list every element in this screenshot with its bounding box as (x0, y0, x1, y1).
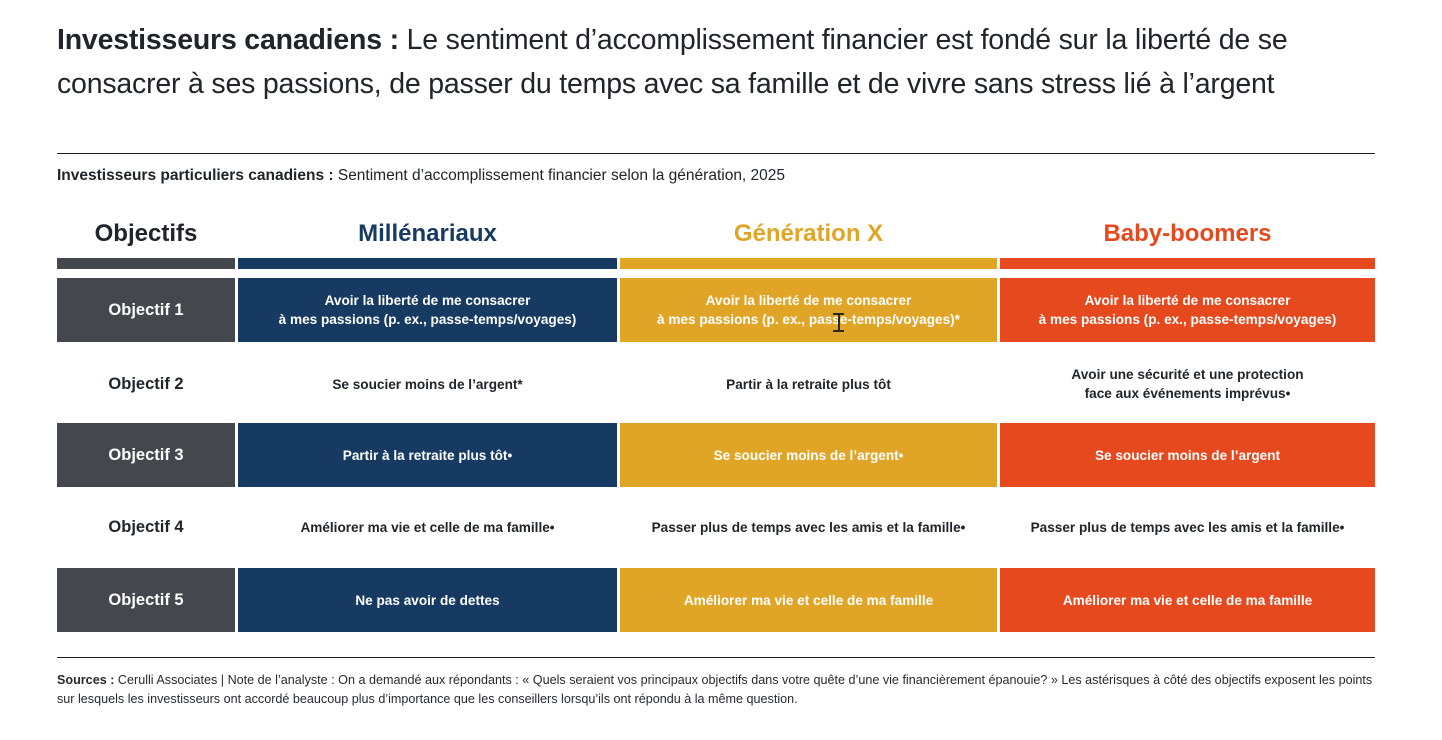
chart-subtitle-lead: Investisseurs particuliers canadiens : (57, 167, 334, 184)
goal-cell: Avoir la liberté de me consacrerà mes pa… (620, 278, 997, 342)
column-accent-bar (238, 258, 617, 269)
goal-cell: Passer plus de temps avec les amis et la… (620, 497, 997, 557)
column-accent-bar (620, 258, 997, 269)
divider-top (57, 153, 1375, 154)
column-header: Génération X (620, 216, 997, 252)
goal-cell: Améliorer ma vie et celle de ma famille• (238, 497, 617, 557)
page-title: Investisseurs canadiens : Le sentiment d… (57, 18, 1357, 106)
goal-cell: Passer plus de temps avec les amis et la… (1000, 497, 1375, 557)
sources-note: Sources : Cerulli Associates | Note de l… (57, 671, 1375, 708)
row-label-cell: Objectif 4 (57, 497, 235, 557)
chart-subtitle: Investisseurs particuliers canadiens : S… (57, 166, 785, 186)
goal-cell: Améliorer ma vie et celle de ma famille (1000, 568, 1375, 632)
goal-cell: Avoir une sécurité et une protectionface… (1000, 352, 1375, 416)
page-title-lead: Investisseurs canadiens : (57, 24, 399, 56)
goal-cell: Se soucier moins de l’argent• (620, 423, 997, 487)
goal-cell: Partir à la retraite plus tôt• (238, 423, 617, 487)
goal-cell: Se soucier moins de l’argent* (238, 352, 617, 416)
row-label-cell: Objectif 3 (57, 423, 235, 487)
divider-bottom (57, 657, 1375, 658)
goal-cell: Ne pas avoir de dettes (238, 568, 617, 632)
row-label-cell: Objectif 2 (57, 352, 235, 416)
goal-cell: Améliorer ma vie et celle de ma famille (620, 568, 997, 632)
infographic-page: Investisseurs canadiens : Le sentiment d… (0, 0, 1442, 740)
goal-cell: Partir à la retraite plus tôt (620, 352, 997, 416)
row-label-cell: Objectif 1 (57, 278, 235, 342)
column-header: Baby-boomers (1000, 216, 1375, 252)
column-header: Millénariaux (238, 216, 617, 252)
chart-subtitle-rest: Sentiment d’accomplissement financier se… (334, 167, 785, 184)
goal-cell: Avoir la liberté de me consacrerà mes pa… (238, 278, 617, 342)
sources-label: Sources : (57, 673, 114, 687)
sources-text: Cerulli Associates | Note de l’analyste … (57, 673, 1372, 706)
column-accent-bar (57, 258, 235, 269)
goal-cell: Se soucier moins de l’argent (1000, 423, 1375, 487)
column-header: Objectifs (57, 216, 235, 252)
goal-cell: Avoir la liberté de me consacrerà mes pa… (1000, 278, 1375, 342)
row-label-cell: Objectif 5 (57, 568, 235, 632)
column-accent-bar (1000, 258, 1375, 269)
